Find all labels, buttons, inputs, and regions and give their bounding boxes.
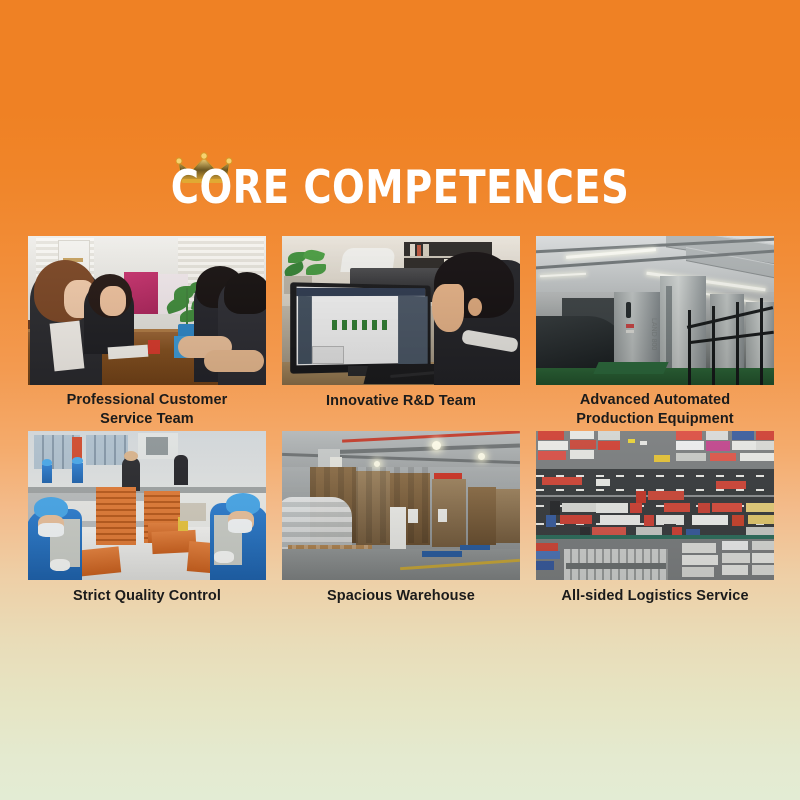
competence-card-advanced-automated-production-equipment[interactable]: LAND 800 Advanced Automated Production E… [536, 236, 774, 431]
competence-card-strict-quality-control[interactable]: Strict Quality Control [28, 431, 266, 626]
caption-professional-customer-service-team: Professional Customer Service Team [28, 385, 266, 431]
caption-strict-quality-control: Strict Quality Control [28, 580, 266, 626]
photo-all-sided-logistics-service [536, 431, 774, 580]
photo-professional-customer-service-team [28, 236, 266, 385]
caption-innovative-rd-team: Innovative R&D Team [282, 385, 520, 431]
competence-card-professional-customer-service-team[interactable]: Professional Customer Service Team [28, 236, 266, 431]
competence-grid: Professional Customer Service Team [28, 236, 768, 626]
photo-innovative-rd-team [282, 236, 520, 385]
competence-card-innovative-rd-team[interactable]: Innovative R&D Team [282, 236, 520, 431]
caption-line: Professional Customer [28, 391, 266, 410]
competence-card-all-sided-logistics-service[interactable]: All-sided Logistics Service [536, 431, 774, 626]
competence-card-spacious-warehouse[interactable]: Spacious Warehouse [282, 431, 520, 626]
photo-strict-quality-control [28, 431, 266, 580]
caption-spacious-warehouse: Spacious Warehouse [282, 580, 520, 626]
page-title: CORE COMPETENCES [28, 162, 772, 212]
photo-spacious-warehouse [282, 431, 520, 580]
caption-line: Spacious Warehouse [282, 587, 520, 606]
caption-line: Strict Quality Control [28, 587, 266, 606]
caption-line: Production Equipment [536, 410, 774, 429]
caption-line: All-sided Logistics Service [536, 587, 774, 606]
caption-advanced-automated-production-equipment: Advanced Automated Production Equipment [536, 385, 774, 431]
title-block: CORE COMPETENCES [0, 150, 800, 200]
caption-line: Innovative R&D Team [282, 392, 520, 411]
caption-all-sided-logistics-service: All-sided Logistics Service [536, 580, 774, 626]
photo-advanced-automated-production-equipment: LAND 800 [536, 236, 774, 385]
caption-line: Advanced Automated [536, 391, 774, 410]
core-competences-banner: CORE COMPETENCES [0, 0, 800, 800]
caption-line: Service Team [28, 410, 266, 429]
